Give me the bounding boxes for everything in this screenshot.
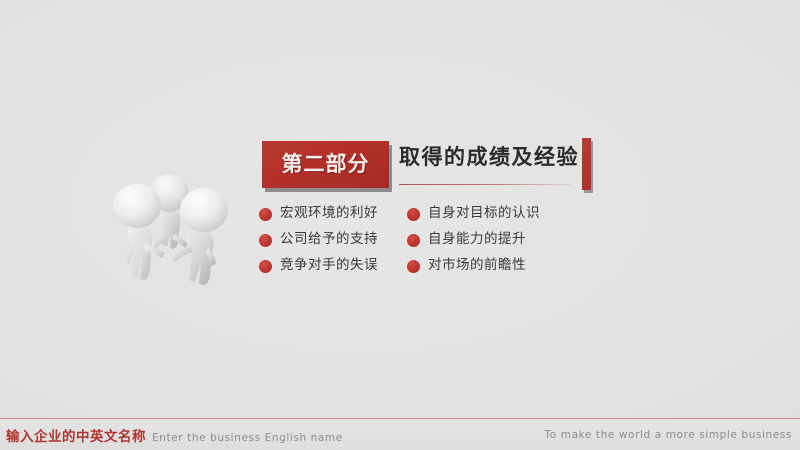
bullet-label: 竞争对手的失误	[280, 259, 378, 273]
figures-svg	[88, 148, 248, 298]
footer-company-en: Enter the business English name	[152, 432, 343, 444]
three-3d-figures-illustration	[88, 148, 248, 298]
list-item: 自身对目标的认识	[407, 205, 540, 223]
bullet-label: 宏观环境的利好	[280, 207, 378, 221]
bullet-label: 对市场的前瞻性	[428, 259, 526, 273]
bullet-dot-icon	[407, 234, 420, 247]
bullet-label: 自身能力的提升	[428, 233, 526, 247]
list-item: 自身能力的提升	[407, 231, 540, 249]
list-item: 公司给予的支持	[259, 231, 378, 249]
list-item: 竞争对手的失误	[259, 257, 378, 275]
list-item: 宏观环境的利好	[259, 205, 378, 223]
bullet-dot-icon	[407, 208, 420, 221]
presentation-slide: 第二部分 取得的成绩及经验 宏观环境的利好 公司给予的支持 竞争对手的失误 自身…	[0, 0, 800, 450]
slide-footer: 输入企业的中英文名称 Enter the business English na…	[0, 419, 800, 450]
section-number-label: 第二部分	[282, 154, 370, 175]
footer-tagline: To make the world a more simple business	[545, 429, 792, 441]
bullet-lists: 宏观环境的利好 公司给予的支持 竞争对手的失误 自身对目标的认识 自身能力的提升	[259, 205, 540, 275]
title-accent-bar	[582, 138, 591, 190]
bullet-column-left: 宏观环境的利好 公司给予的支持 竞争对手的失误	[259, 205, 378, 275]
bullet-dot-icon	[259, 208, 272, 221]
section-number-badge: 第二部分	[262, 141, 389, 188]
bullet-dot-icon	[259, 260, 272, 273]
bullet-label: 公司给予的支持	[280, 233, 378, 247]
footer-company-cn: 输入企业的中英文名称	[6, 425, 146, 445]
footer-company: 输入企业的中英文名称 Enter the business English na…	[6, 425, 343, 445]
bullet-dot-icon	[259, 234, 272, 247]
figure-left	[113, 184, 165, 280]
page-title: 取得的成绩及经验	[399, 147, 579, 168]
bullet-label: 自身对目标的认识	[428, 207, 540, 221]
bullet-dot-icon	[407, 260, 420, 273]
list-item: 对市场的前瞻性	[407, 257, 540, 275]
bullet-column-right: 自身对目标的认识 自身能力的提升 对市场的前瞻性	[407, 205, 540, 275]
title-underline	[399, 184, 571, 185]
